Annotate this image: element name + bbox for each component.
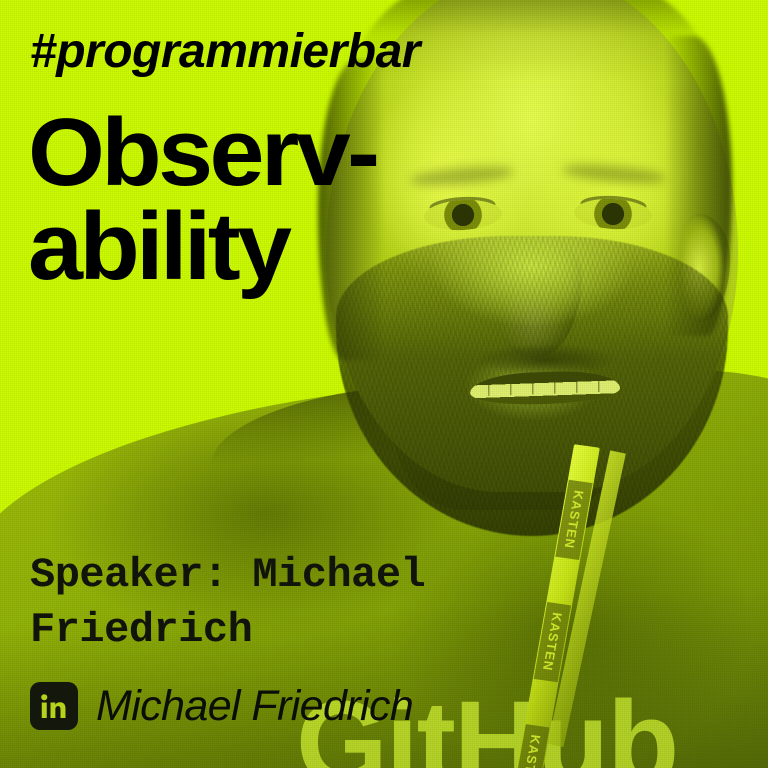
- podcast-cover: GitHub KASTEN KASTEN KASTEN: [0, 0, 768, 768]
- text-layer: #programmierbar Observ- ability Speaker:…: [0, 0, 768, 768]
- podcast-hashtag: #programmierbar: [30, 28, 420, 76]
- linkedin-icon[interactable]: [30, 682, 78, 730]
- episode-title: Observ- ability: [28, 106, 376, 294]
- social-row[interactable]: Michael Friedrich: [30, 682, 413, 730]
- linkedin-handle[interactable]: Michael Friedrich: [96, 685, 413, 728]
- speaker-name: Speaker: Michael Friedrich: [30, 548, 425, 657]
